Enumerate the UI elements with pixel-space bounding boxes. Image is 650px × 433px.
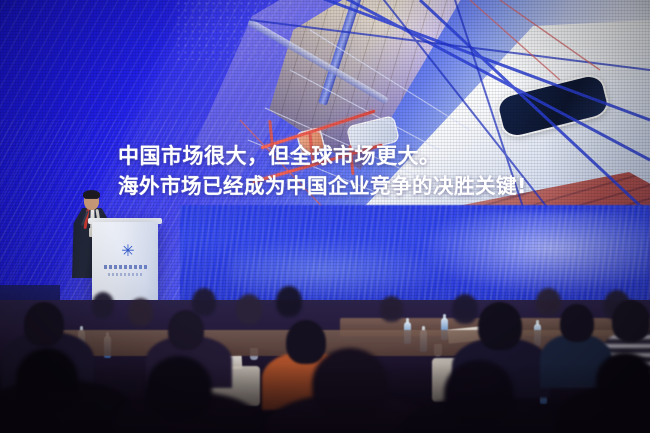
foreground-head bbox=[312, 348, 388, 420]
audience-head bbox=[380, 296, 403, 322]
audience-head bbox=[92, 292, 114, 318]
audience-head bbox=[128, 298, 153, 326]
podium-chinese-text bbox=[104, 265, 148, 269]
eight-point-star-logo: ✳ bbox=[120, 244, 136, 260]
audience-head bbox=[452, 294, 478, 324]
headline-line-1: 中国市场很大，但全球市场更大。 bbox=[118, 143, 588, 171]
foreground-head bbox=[596, 352, 650, 410]
audience-head bbox=[536, 288, 561, 316]
screenshot-root: 中国市场很大，但全球市场更大。 海外市场已经成为中国企业竞争的决胜关键! ✳ bbox=[0, 0, 650, 433]
glasses-icon bbox=[85, 198, 98, 202]
audience-head bbox=[560, 304, 594, 342]
audience-head bbox=[286, 320, 326, 364]
star-glyph: ✳ bbox=[120, 244, 136, 260]
foreground-head bbox=[146, 356, 212, 420]
foreground-head bbox=[444, 360, 514, 426]
audience-head bbox=[168, 310, 204, 350]
podium-english-text bbox=[108, 273, 144, 276]
foreground-head bbox=[16, 348, 78, 410]
audience-head bbox=[24, 302, 64, 346]
headline-line-2: 海外市场已经成为中国企业竞争的决胜关键! bbox=[118, 173, 588, 200]
audience-head bbox=[192, 288, 216, 316]
audience-head bbox=[276, 286, 302, 317]
audience-head bbox=[478, 302, 522, 350]
audience-head bbox=[612, 300, 650, 342]
audience-head bbox=[236, 294, 262, 324]
screen-headline: 中国市场很大，但全球市场更大。 海外市场已经成为中国企业竞争的决胜关键! bbox=[118, 143, 588, 200]
